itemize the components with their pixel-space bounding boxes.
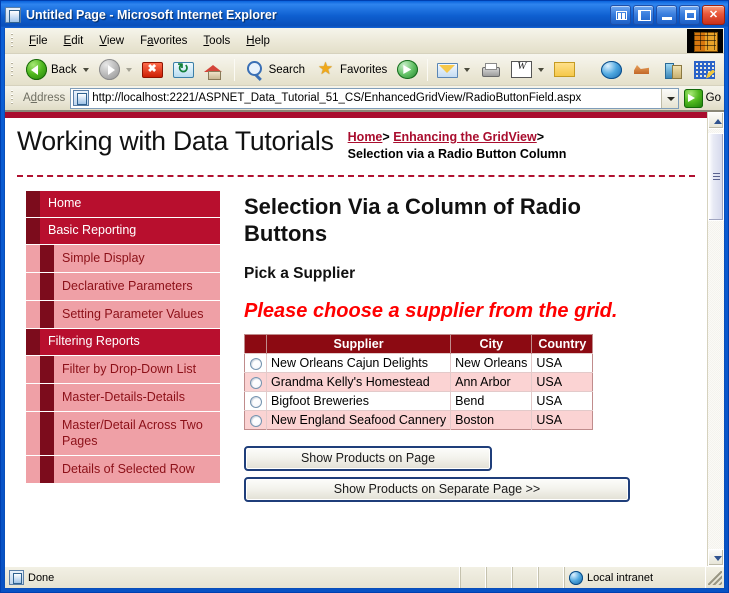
favorites-star-icon xyxy=(315,59,336,80)
scroll-up-icon[interactable] xyxy=(708,112,724,129)
back-dropdown-icon[interactable] xyxy=(83,68,89,72)
button-row-1: Show Products on Page xyxy=(244,446,695,471)
cell-supplier: New Orleans Cajun Delights xyxy=(267,354,451,373)
search-icon xyxy=(244,59,265,80)
security-zone-pane[interactable]: Local intranet xyxy=(564,567,706,588)
sidebar-item-simple-display[interactable]: Simple Display xyxy=(26,245,220,273)
page-icon xyxy=(73,90,89,106)
sidebar-item-setting-parameter-values[interactable]: Setting Parameter Values xyxy=(26,301,220,329)
sidebar-item-master-detail-across-two-pages[interactable]: Master/Detail Across Two Pages xyxy=(26,412,220,456)
sidebar-item-master-details-details[interactable]: Master-Details-Details xyxy=(26,384,220,412)
radio-button[interactable] xyxy=(250,415,262,427)
vertical-scrollbar[interactable] xyxy=(707,112,724,566)
scroll-down-icon[interactable] xyxy=(708,549,724,566)
research-icon xyxy=(663,61,684,79)
search-button[interactable]: Search xyxy=(239,57,310,82)
cell-city: Boston xyxy=(451,411,532,430)
toolbar-gripper[interactable] xyxy=(8,61,17,79)
supplier-grid: Supplier City Country New Orleans Cajun … xyxy=(244,334,593,430)
menu-item-favorites[interactable]: Favorites xyxy=(132,32,195,50)
cell-country: USA xyxy=(532,411,593,430)
fox-icon xyxy=(632,61,653,78)
status-text-pane: Done xyxy=(5,567,460,588)
go-button[interactable]: Go xyxy=(679,89,721,108)
edit-dropdown-icon[interactable] xyxy=(538,68,544,72)
button-row-2: Show Products on Separate Page >> xyxy=(244,477,695,502)
address-label: Address xyxy=(21,92,70,104)
title-bar: Untitled Page - Microsoft Internet Explo… xyxy=(1,1,728,28)
security-zone-text: Local intranet xyxy=(587,572,653,584)
research-button[interactable] xyxy=(658,59,689,81)
cell-city: Ann Arbor xyxy=(451,373,532,392)
edit-word-icon xyxy=(511,61,532,78)
content-subheading: Pick a Supplier xyxy=(244,265,695,283)
content-heading: Selection Via a Column of Radio Buttons xyxy=(244,193,604,247)
close-group-button[interactable] xyxy=(633,5,654,25)
forward-icon xyxy=(99,59,120,80)
validation-message: Please choose a supplier from the grid. xyxy=(244,299,654,324)
cell-supplier: Grandma Kelly's Homestead xyxy=(267,373,451,392)
mail-button[interactable] xyxy=(432,59,475,80)
table-row: New Orleans Cajun Delights New Orleans U… xyxy=(245,354,593,373)
cell-country: USA xyxy=(532,373,593,392)
address-input[interactable]: http://localhost:2221/ASPNET_Data_Tutori… xyxy=(70,88,678,109)
edit-html-button[interactable] xyxy=(689,59,720,81)
back-label: Back xyxy=(51,64,77,76)
favorites-label: Favorites xyxy=(340,64,387,76)
mail-dropdown-icon[interactable] xyxy=(464,68,470,72)
web-page: Working with Data Tutorials Home> Enhanc… xyxy=(5,112,707,566)
column-header-city: City xyxy=(451,335,532,354)
table-header-row: Supplier City Country xyxy=(245,335,593,354)
refresh-button[interactable] xyxy=(168,59,199,80)
sidebar-nav: Home Basic Reporting Simple Display Decl… xyxy=(5,177,220,484)
media-button[interactable] xyxy=(392,58,423,81)
notes-icon xyxy=(554,62,575,77)
sidebar-item-filter-by-drop-down-list[interactable]: Filter by Drop-Down List xyxy=(26,356,220,384)
media-icon xyxy=(397,60,418,79)
home-button[interactable] xyxy=(199,59,230,80)
radio-button[interactable] xyxy=(250,396,262,408)
main-content: Selection Via a Column of Radio Buttons … xyxy=(220,177,707,518)
zone-globe-icon xyxy=(569,571,583,585)
address-url-text: http://localhost:2221/ASPNET_Data_Tutori… xyxy=(92,92,660,104)
window-title: Untitled Page - Microsoft Internet Explo… xyxy=(26,8,610,22)
menu-gripper[interactable] xyxy=(8,32,17,50)
home-icon xyxy=(204,61,225,78)
column-header-select xyxy=(245,335,267,354)
table-row: New England Seafood Cannery Boston USA xyxy=(245,411,593,430)
address-gripper[interactable] xyxy=(8,89,17,107)
cell-supplier: New England Seafood Cannery xyxy=(267,411,451,430)
show-products-on-page-button[interactable]: Show Products on Page xyxy=(244,446,492,471)
minimize-button[interactable] xyxy=(656,5,677,25)
mail-icon xyxy=(437,63,458,78)
sidebar-item-details-of-selected-row[interactable]: Details of Selected Row xyxy=(26,456,220,484)
messenger-icon xyxy=(601,61,622,79)
cell-supplier: Bigfoot Breweries xyxy=(267,392,451,411)
scrollbar-track[interactable] xyxy=(708,129,724,549)
breadcrumb-link-home[interactable]: Home xyxy=(348,130,383,144)
cell-country: USA xyxy=(532,392,593,411)
table-row: Grandma Kelly's Homestead Ann Arbor USA xyxy=(245,373,593,392)
toolbar-separator xyxy=(234,59,235,81)
print-icon xyxy=(480,62,501,78)
column-header-country: Country xyxy=(532,335,593,354)
sidebar-item-basic-reporting[interactable]: Basic Reporting xyxy=(26,218,220,245)
browser-window: Untitled Page - Microsoft Internet Explo… xyxy=(0,0,729,593)
browser-client: File Edit View Favorites Tools Help Back xyxy=(4,28,725,589)
close-button[interactable]: ✕ xyxy=(702,5,725,25)
refresh-icon xyxy=(173,62,194,78)
forward-button[interactable] xyxy=(94,57,137,82)
status-pane-3 xyxy=(486,567,512,588)
print-button[interactable] xyxy=(475,60,506,80)
search-label: Search xyxy=(269,64,305,76)
edit-html-icon xyxy=(694,61,715,79)
favorites-button[interactable]: Favorites xyxy=(310,57,392,82)
cell-country: USA xyxy=(532,354,593,373)
menu-item-file[interactable]: File xyxy=(21,32,56,50)
row-select-cell[interactable] xyxy=(245,411,267,430)
status-bar: Done Local intranet xyxy=(5,566,724,588)
restore-group-button[interactable] xyxy=(610,5,631,25)
back-icon xyxy=(26,59,47,80)
cell-city: Bend xyxy=(451,392,532,411)
ie-brand-logo-icon xyxy=(687,29,723,53)
row-select-cell[interactable] xyxy=(245,392,267,411)
forward-dropdown-icon[interactable] xyxy=(126,68,132,72)
sidebar-item-home[interactable]: Home xyxy=(26,191,220,218)
address-bar: Address http://localhost:2221/ASPNET_Dat… xyxy=(5,86,724,111)
status-pane-2 xyxy=(460,567,486,588)
page-columns: Home Basic Reporting Simple Display Decl… xyxy=(5,177,707,518)
cell-city: New Orleans xyxy=(451,354,532,373)
status-pane-4 xyxy=(512,567,538,588)
breadcrumb-sep-2: > xyxy=(537,130,544,144)
breadcrumb-link-section[interactable]: Enhancing the GridView xyxy=(393,130,537,144)
status-text: Done xyxy=(28,572,54,584)
menu-item-view[interactable]: View xyxy=(91,32,132,50)
page-title: Working with Data Tutorials xyxy=(17,124,334,158)
notes-button[interactable] xyxy=(549,60,580,79)
breadcrumb-sep-1: > xyxy=(382,130,389,144)
browser-toolbar: Back Search Favorites xyxy=(5,54,724,86)
sidebar-item-declarative-parameters[interactable]: Declarative Parameters xyxy=(26,273,220,301)
row-select-cell[interactable] xyxy=(245,373,267,392)
go-icon xyxy=(684,89,703,108)
maximize-button[interactable] xyxy=(679,5,700,25)
page-header: Working with Data Tutorials Home> Enhanc… xyxy=(5,118,707,173)
stop-button[interactable] xyxy=(137,59,168,80)
page-viewport: Working with Data Tutorials Home> Enhanc… xyxy=(5,111,724,566)
toolbar-separator-2 xyxy=(427,59,428,81)
sidebar-item-filtering-reports[interactable]: Filtering Reports xyxy=(26,329,220,356)
menu-item-edit[interactable]: Edit xyxy=(56,32,92,50)
fox-button[interactable] xyxy=(627,59,658,80)
table-row: Bigfoot Breweries Bend USA xyxy=(245,392,593,411)
address-dropdown-icon[interactable] xyxy=(661,89,678,108)
breadcrumb-current: Selection via a Radio Button Column xyxy=(348,147,567,161)
menu-item-help[interactable]: Help xyxy=(238,32,278,50)
window-app-icon xyxy=(5,7,21,23)
scrollbar-thumb[interactable] xyxy=(708,133,724,221)
row-select-cell[interactable] xyxy=(245,354,267,373)
column-header-supplier: Supplier xyxy=(267,335,451,354)
back-button[interactable]: Back xyxy=(21,57,94,82)
menu-item-tools[interactable]: Tools xyxy=(195,32,238,50)
status-pane-5 xyxy=(538,567,564,588)
show-products-separate-page-button[interactable]: Show Products on Separate Page >> xyxy=(244,477,630,502)
toolbar-gap xyxy=(584,59,592,81)
breadcrumb: Home> Enhancing the GridView> Selection … xyxy=(348,124,703,163)
radio-button[interactable] xyxy=(250,358,262,370)
menu-bar: File Edit View Favorites Tools Help xyxy=(5,28,724,54)
window-controls: ✕ xyxy=(610,5,725,25)
radio-button[interactable] xyxy=(250,377,262,389)
go-label: Go xyxy=(706,92,721,104)
messenger-button[interactable] xyxy=(596,59,627,81)
status-page-icon xyxy=(9,570,24,585)
stop-icon xyxy=(142,62,163,78)
edit-word-button[interactable] xyxy=(506,59,549,80)
resize-grip[interactable] xyxy=(708,571,722,585)
